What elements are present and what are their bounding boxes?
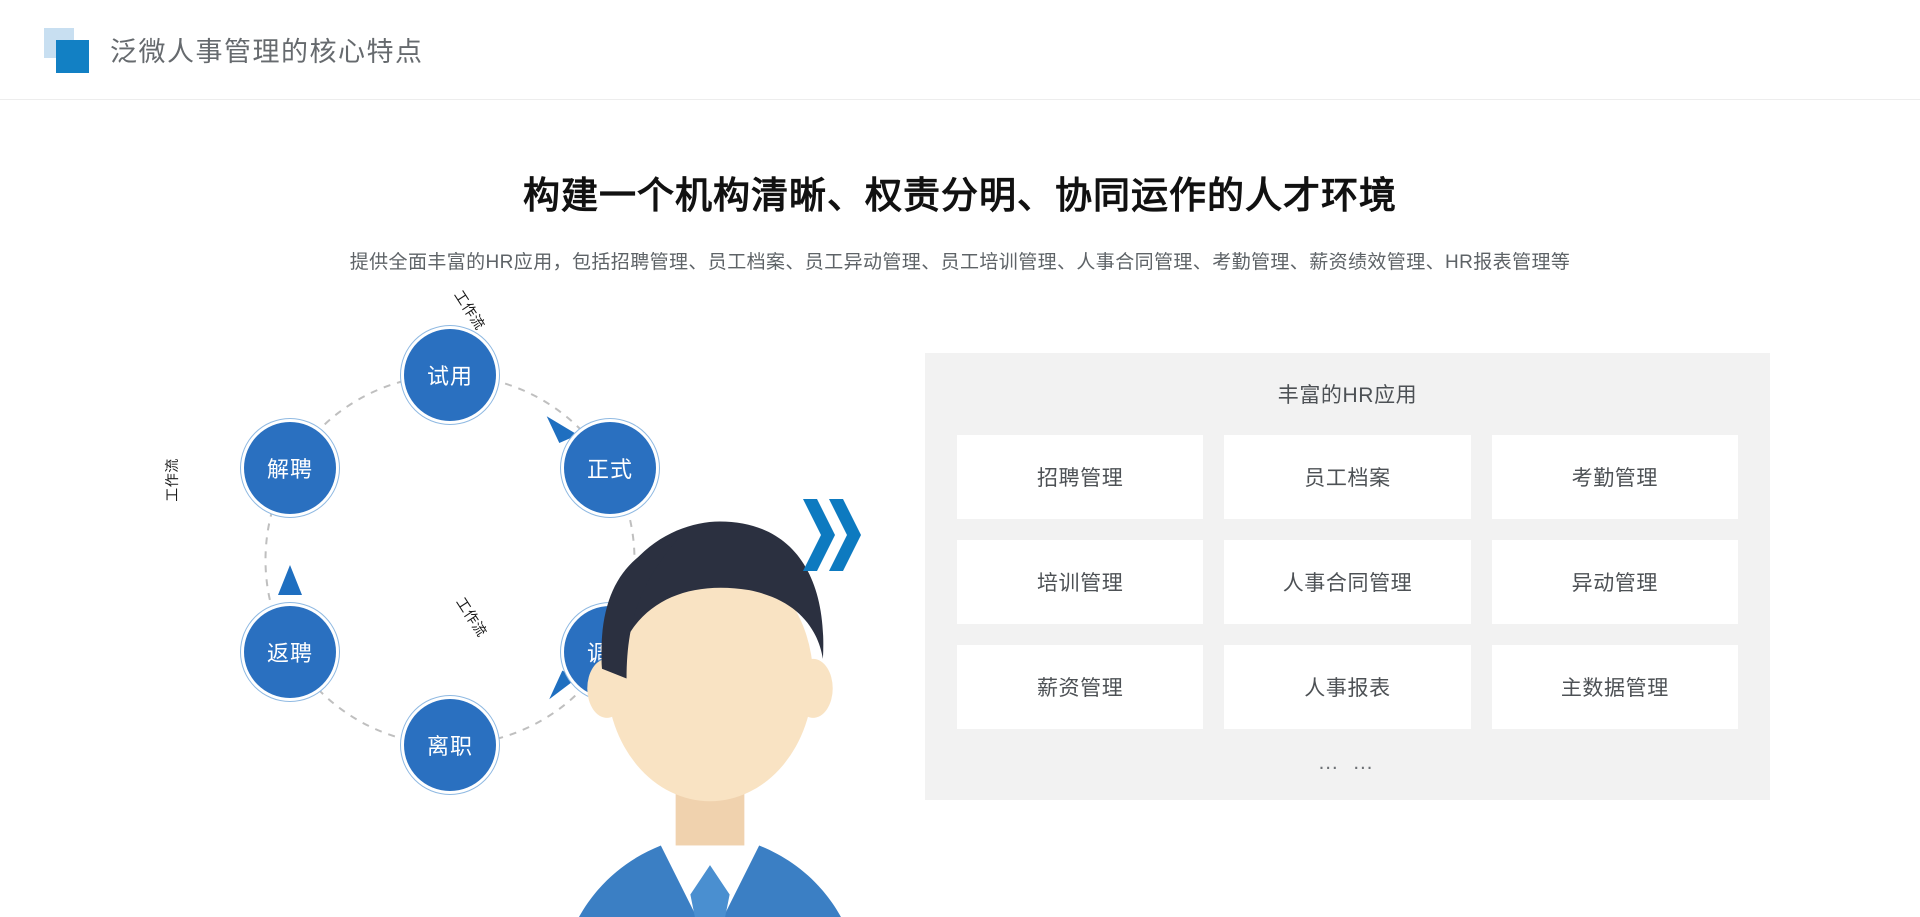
app-card[interactable]: 主数据管理 [1492,645,1738,729]
double-chevron-right-icon [795,495,865,575]
hr-applications-grid: 招聘管理 员工档案 考勤管理 培训管理 人事合同管理 异动管理 薪资管理 人事报… [957,435,1738,729]
app-card[interactable]: 员工档案 [1224,435,1470,519]
cycle-node-label: 正式 [587,452,633,484]
app-card-label: 员工档案 [1304,462,1390,492]
app-card-label: 人事报表 [1304,672,1390,702]
app-card[interactable]: 考勤管理 [1492,435,1738,519]
app-card-label: 异动管理 [1572,567,1658,597]
cycle-node-shiyong[interactable]: 试用 [404,329,496,421]
app-card-label: 主数据管理 [1561,672,1669,702]
app-card-label: 招聘管理 [1037,462,1123,492]
app-card-label: 培训管理 [1037,567,1123,597]
app-card[interactable]: 人事合同管理 [1224,540,1470,624]
app-card[interactable]: 招聘管理 [957,435,1203,519]
app-card-label: 薪资管理 [1037,672,1123,702]
employee-avatar [400,492,500,602]
hr-applications-title: 丰富的HR应用 [957,379,1738,409]
brand-logo-icon [44,26,96,74]
app-card-label: 人事合同管理 [1283,567,1413,597]
hero-headline: 构建一个机构清晰、权责分明、协同运作的人才环境 [0,174,1920,218]
app-card-label: 考勤管理 [1572,462,1658,492]
flow-label-left: 工作流 [162,458,182,502]
cycle-node-label: 试用 [427,359,473,391]
hr-applications-more: … … [957,751,1738,775]
cycle-node-jiepin[interactable]: 解聘 [244,422,336,514]
hero-section: 构建一个机构清晰、权责分明、协同运作的人才环境 提供全面丰富的HR应用，包括招聘… [0,100,1920,277]
app-card[interactable]: 培训管理 [957,540,1203,624]
hr-applications-panel: 丰富的HR应用 招聘管理 员工档案 考勤管理 培训管理 人事合同管理 异动管理 … [925,353,1770,800]
page-title: 泛微人事管理的核心特点 [110,30,424,69]
app-card[interactable]: 薪资管理 [957,645,1203,729]
cycle-node-label: 解聘 [267,452,313,484]
logo-square-front-icon [56,40,89,73]
main-content: 试用 正式 调岗 离职 返聘 解聘 工作流 工作流 工作流 [0,285,1920,845]
app-card[interactable]: 人事报表 [1224,645,1470,729]
page-header: 泛微人事管理的核心特点 [0,0,1920,100]
hero-subhead: 提供全面丰富的HR应用，包括招聘管理、员工档案、员工异动管理、员工培训管理、人事… [0,250,1920,277]
cycle-node-label: 返聘 [267,636,313,668]
employee-lifecycle-diagram: 试用 正式 调岗 离职 返聘 解聘 工作流 工作流 工作流 [160,295,780,835]
cycle-node-fanpin[interactable]: 返聘 [244,606,336,698]
app-card[interactable]: 异动管理 [1492,540,1738,624]
